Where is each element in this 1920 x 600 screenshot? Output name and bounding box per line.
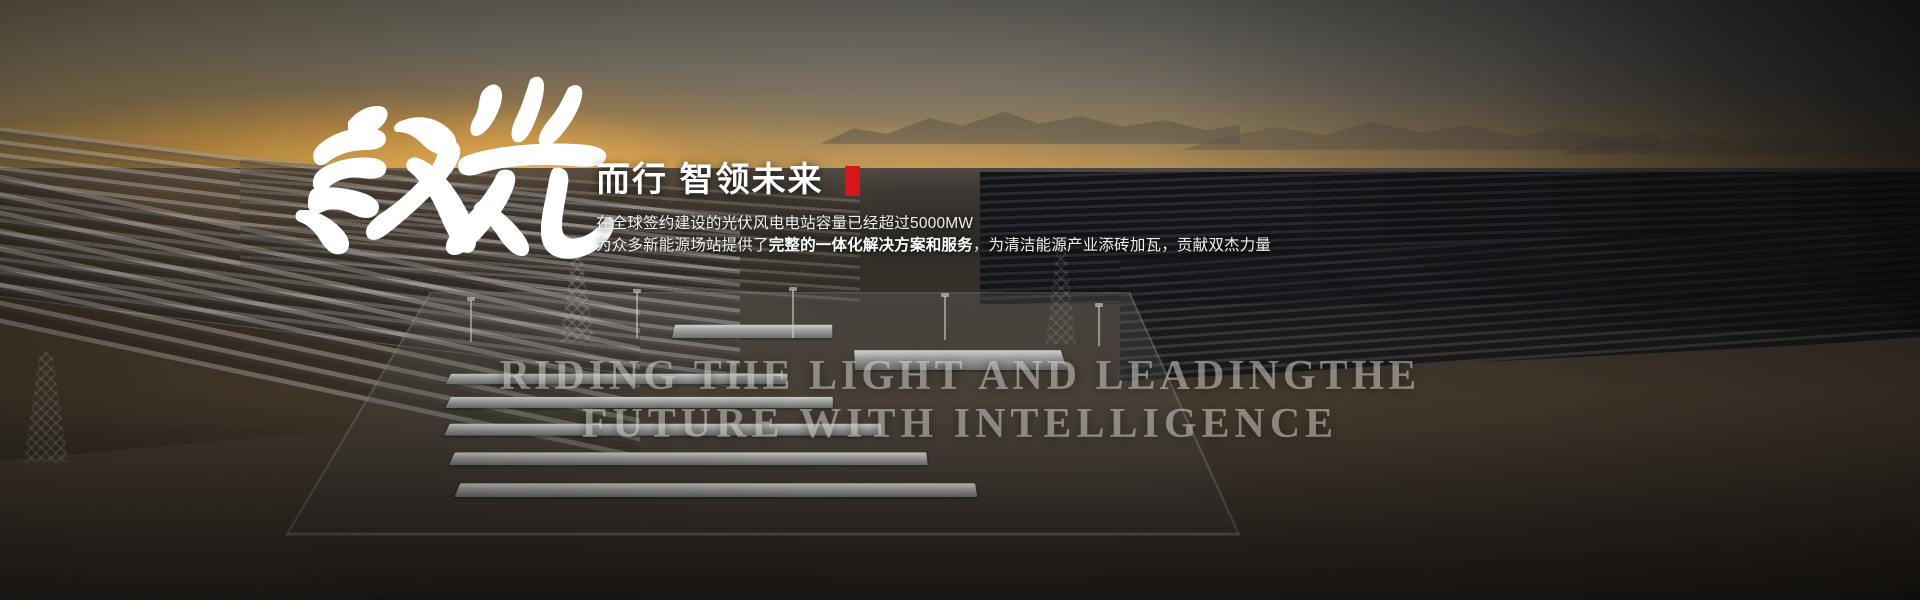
description-line-2: 为众多新能源场站提供了完整的一体化解决方案和服务，为清洁能源产业添砖加瓦，贡献双… <box>596 235 1496 257</box>
headline: 而行 智领未来 <box>596 163 1496 199</box>
description-line-1: 在全球签约建设的光伏风电电站容量已经超过5000MW <box>596 213 1496 235</box>
vignette-overlay <box>0 0 1920 600</box>
description-line-2-bold: 完整的一体化解决方案和服务 <box>769 237 973 254</box>
red-bar-accent <box>845 166 860 196</box>
headline-text: 而行 智领未来 <box>596 163 823 199</box>
hero-banner: 而行 智领未来 在全球签约建设的光伏风电电站容量已经超过5000MW 为众多新能… <box>0 0 1920 600</box>
description-line-2-suffix: ，为清洁能源产业添砖加瓦，贡献双杰力量 <box>973 237 1271 254</box>
description-block: 在全球签约建设的光伏风电电站容量已经超过5000MW 为众多新能源场站提供了完整… <box>596 213 1496 257</box>
background-photo <box>0 0 1920 600</box>
description-line-2-prefix: 为众多新能源场站提供了 <box>596 237 769 254</box>
hero-copy: 而行 智领未来 在全球签约建设的光伏风电电站容量已经超过5000MW 为众多新能… <box>596 163 1496 257</box>
